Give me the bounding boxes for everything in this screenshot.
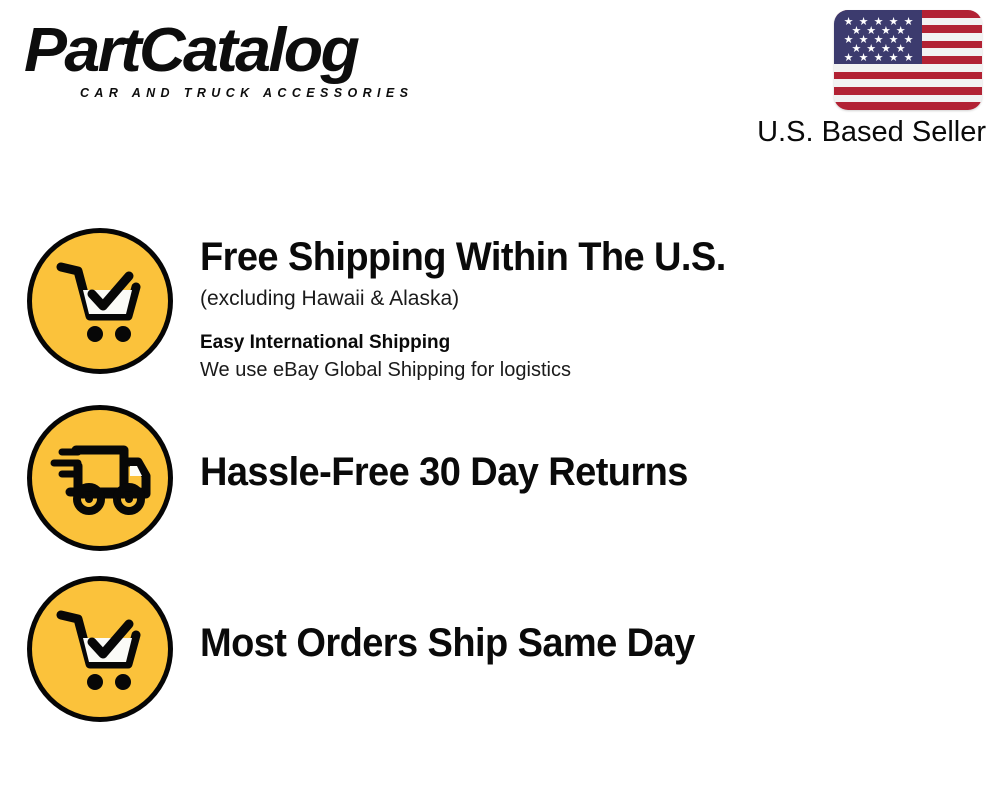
feature-row-free-shipping: Free Shipping Within The U.S. (excluding…: [0, 228, 1000, 383]
feature-row-returns: Hassle-Free 30 Day Returns: [0, 405, 1000, 551]
us-flag-icon: ★★★★★ ★★★★ ★★★★★ ★★★★ ★★★★★: [834, 10, 982, 110]
feature-icon-wrap: [0, 576, 200, 722]
feature-heading: Free Shipping Within The U.S.: [200, 236, 960, 278]
brand-wordmark: PartCatalog: [24, 20, 513, 82]
feature-icon-wrap: [0, 228, 200, 374]
flag-canton: ★★★★★ ★★★★ ★★★★★ ★★★★ ★★★★★: [834, 10, 922, 64]
banner-header: PartCatalog CAR AND TRUCK ACCESSORIES: [0, 0, 1000, 170]
feature-subtext: (excluding Hawaii & Alaska): [200, 285, 1000, 313]
feature-subtext-light: We use eBay Global Shipping for logistic…: [200, 357, 1000, 383]
seller-location-label: U.S. Based Seller: [757, 116, 986, 149]
shopping-cart-check-icon: [27, 576, 173, 722]
feature-subtext-strong: Easy International Shipping: [200, 331, 1000, 356]
delivery-truck-icon: [27, 405, 173, 551]
us-based-seller-badge: ★★★★★ ★★★★ ★★★★★ ★★★★ ★★★★★: [834, 10, 986, 110]
feature-row-same-day-ship: Most Orders Ship Same Day: [0, 576, 1000, 722]
brand-logo[interactable]: PartCatalog CAR AND TRUCK ACCESSORIES: [24, 20, 494, 100]
flag-star-row: ★★★★★: [841, 53, 916, 62]
feature-text-block: Most Orders Ship Same Day: [200, 576, 1000, 664]
feature-icon-wrap: [0, 405, 200, 551]
feature-heading: Hassle-Free 30 Day Returns: [200, 451, 960, 493]
promo-banner: PartCatalog CAR AND TRUCK ACCESSORIES: [0, 0, 1000, 800]
shopping-cart-check-icon: [27, 228, 173, 374]
feature-text-block: Free Shipping Within The U.S. (excluding…: [200, 228, 1000, 383]
feature-text-block: Hassle-Free 30 Day Returns: [200, 405, 1000, 493]
feature-heading: Most Orders Ship Same Day: [200, 622, 960, 664]
brand-tagline: CAR AND TRUCK ACCESSORIES: [24, 86, 494, 100]
